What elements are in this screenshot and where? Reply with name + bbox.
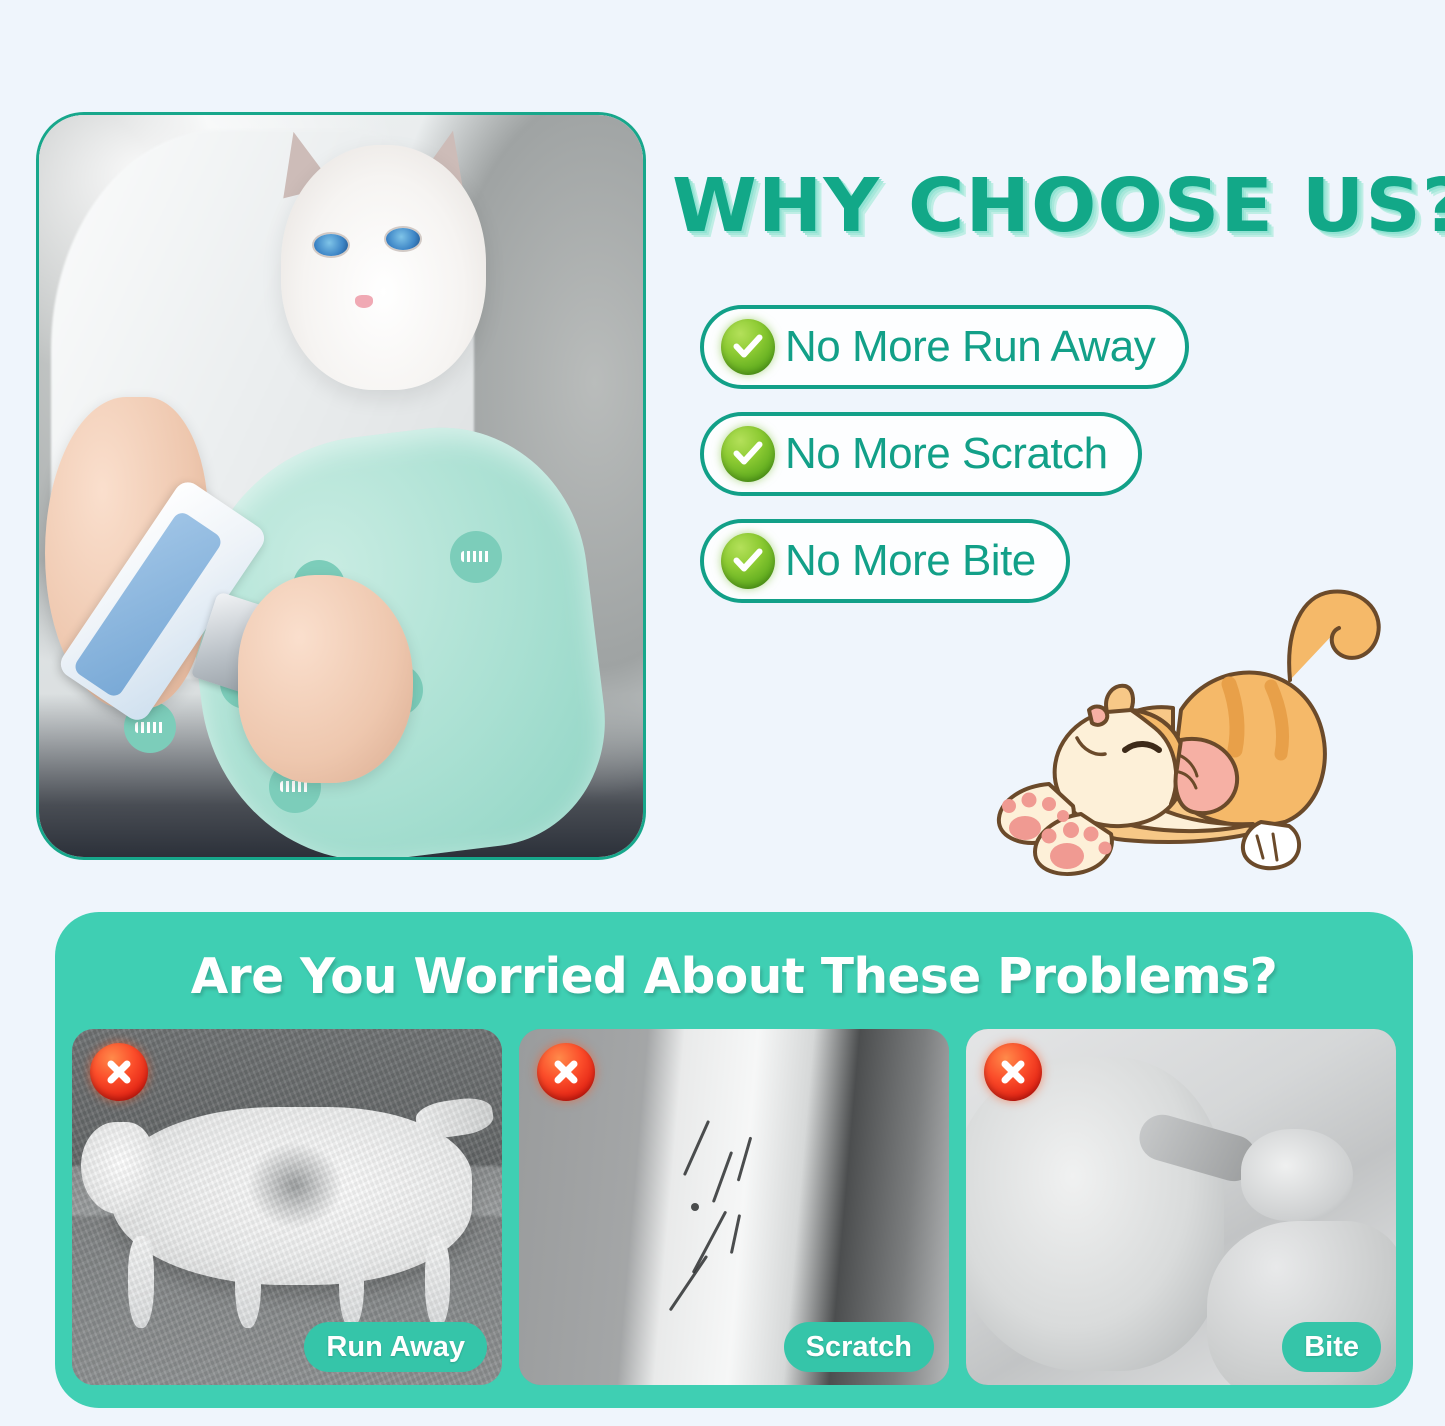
biting-cat bbox=[966, 1057, 1224, 1370]
problem-card-run-away[interactable]: Run Away bbox=[72, 1029, 502, 1385]
hero-photo-scene bbox=[39, 115, 643, 857]
benefit-label: No More Scratch bbox=[785, 429, 1108, 479]
scratch-mark bbox=[683, 1120, 710, 1176]
hero-product-photo bbox=[36, 112, 646, 860]
caption-label: Run Away bbox=[326, 1331, 465, 1364]
benefit-list: No More Run Away No More Scratch No More… bbox=[700, 305, 1189, 603]
walking-cat-tail bbox=[414, 1095, 496, 1141]
problem-card-bite[interactable]: Bite bbox=[966, 1029, 1396, 1385]
scratch-mark bbox=[668, 1255, 707, 1311]
walking-cat-head bbox=[81, 1122, 154, 1215]
scratch-mark bbox=[736, 1136, 751, 1181]
cat-paw bbox=[1241, 1129, 1353, 1222]
problem-card-scratch[interactable]: Scratch bbox=[519, 1029, 949, 1385]
caption-label: Scratch bbox=[806, 1331, 912, 1364]
cat-head bbox=[281, 145, 486, 390]
benefit-label: No More Run Away bbox=[785, 322, 1155, 372]
check-circle-icon bbox=[721, 319, 775, 375]
problem-caption-bite: Bite bbox=[1282, 1322, 1381, 1372]
walking-cat-leg bbox=[128, 1236, 154, 1329]
why-choose-us-title: WHY CHOOSE US? bbox=[672, 163, 1445, 249]
fishbone-dot bbox=[450, 531, 502, 583]
cat-eye-left bbox=[314, 234, 348, 256]
scratch-mark bbox=[712, 1151, 733, 1203]
x-circle-icon bbox=[984, 1043, 1042, 1101]
problem-caption-scratch: Scratch bbox=[784, 1322, 934, 1372]
benefit-pill-scratch[interactable]: No More Scratch bbox=[700, 412, 1142, 496]
problem-card-list: Run Away bbox=[72, 1029, 1396, 1385]
walking-cat-body bbox=[111, 1107, 472, 1285]
scratch-mark bbox=[692, 1211, 727, 1274]
problems-panel: Are You Worried About These Problems? bbox=[55, 912, 1413, 1408]
scratch-wound bbox=[691, 1203, 699, 1211]
walking-cat-leg bbox=[235, 1236, 261, 1329]
scratch-mark bbox=[730, 1214, 741, 1254]
check-circle-icon bbox=[721, 533, 775, 589]
x-circle-icon bbox=[90, 1043, 148, 1101]
problem-caption-run-away: Run Away bbox=[304, 1322, 487, 1372]
check-circle-icon bbox=[721, 426, 775, 482]
benefit-pill-run-away[interactable]: No More Run Away bbox=[700, 305, 1189, 389]
walking-cat-leg bbox=[339, 1236, 365, 1329]
x-circle-icon bbox=[537, 1043, 595, 1101]
infographic-page: WHY CHOOSE US? No More Run Away No More … bbox=[0, 0, 1445, 1426]
cat-eye-right bbox=[386, 228, 420, 250]
walking-cat-leg bbox=[425, 1236, 451, 1329]
caption-label: Bite bbox=[1304, 1331, 1359, 1364]
problems-title: Are You Worried About These Problems? bbox=[62, 948, 1406, 1005]
cartoon-cat-mascot bbox=[985, 560, 1405, 890]
human-hand-right bbox=[238, 575, 413, 783]
